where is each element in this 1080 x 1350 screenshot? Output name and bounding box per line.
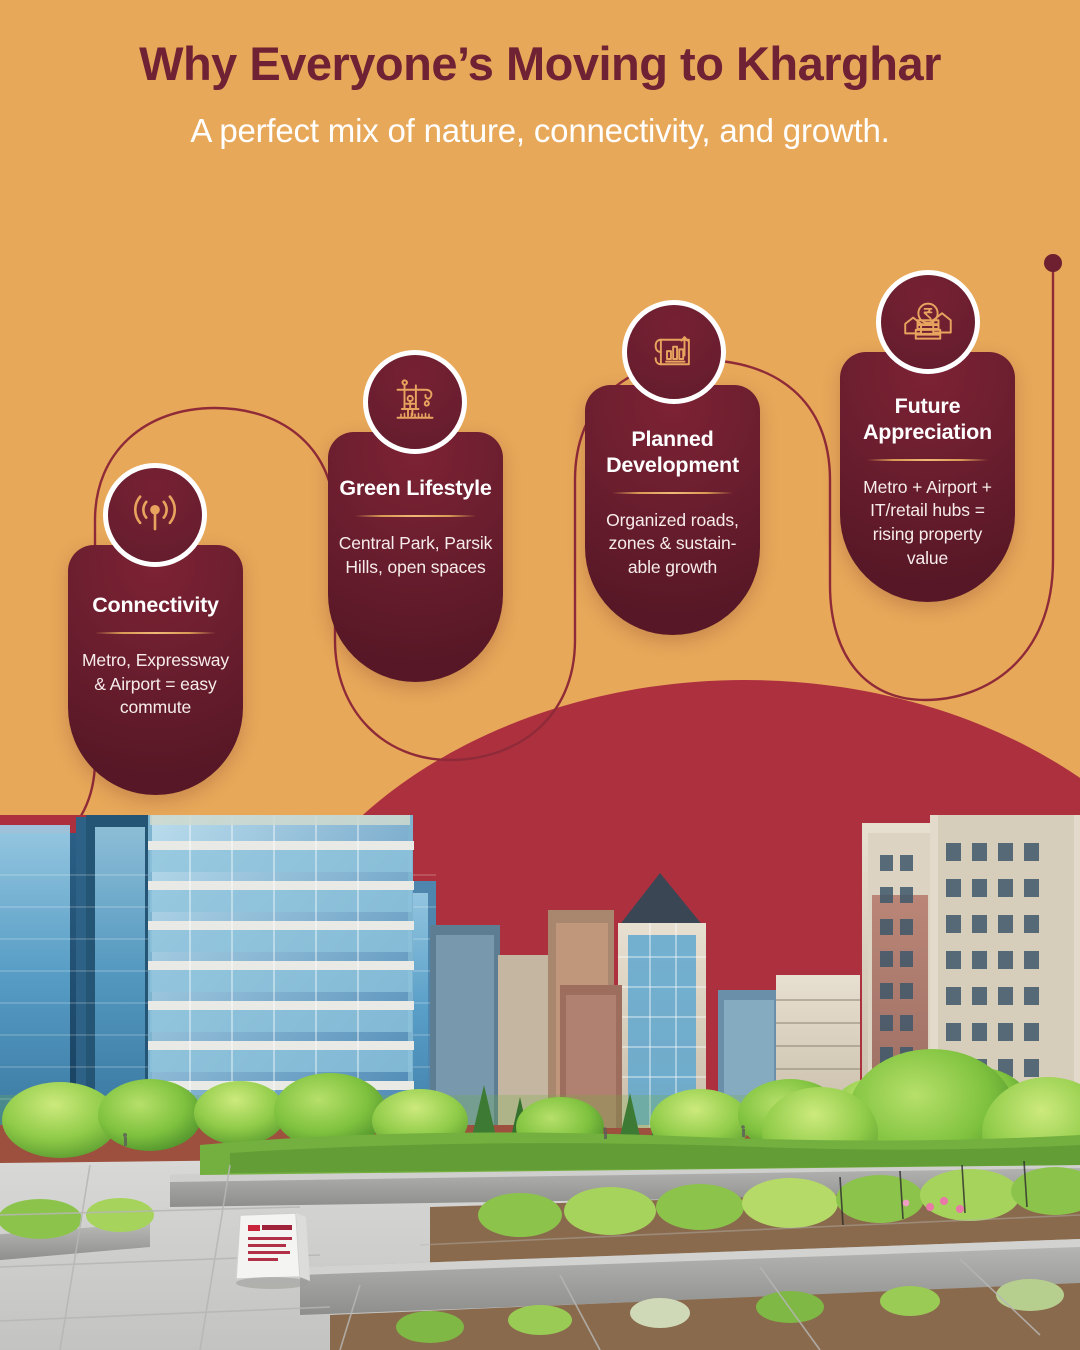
card-description: Metro, Expressway & Airport = easy commu… [78, 649, 233, 720]
card-divider [95, 632, 216, 634]
feature-card-future-appreciation[interactable]: Future Appreciation Metro + Airport + IT… [840, 352, 1015, 602]
rupee-house-coins-icon [876, 270, 980, 374]
feature-card-green-lifestyle[interactable]: Green Lifestyle Central Park, Parsik Hil… [328, 432, 503, 682]
page-title: Why Everyone’s Moving to Kharghar [0, 36, 1080, 91]
card-description: Central Park, Parsik Hills, open spaces [338, 532, 493, 580]
city-park-photo [0, 815, 1080, 1350]
header: Why Everyone’s Moving to Kharghar A perf… [0, 0, 1080, 151]
card-title: Connectivity [78, 593, 233, 619]
broadcast-signal-icon [103, 463, 207, 567]
card-title: Green Lifestyle [338, 476, 493, 502]
sidewalk-sign [236, 1213, 310, 1289]
card-title: Future Appreciation [850, 394, 1005, 446]
tree-swing-icon [363, 350, 467, 454]
card-description: Organized roads, zones & sustain- able g… [595, 509, 750, 580]
card-description: Metro + Airport + IT/retail hubs = risin… [850, 476, 1005, 571]
card-title: Planned Development [595, 427, 750, 479]
page-subtitle: A perfect mix of nature, connectivity, a… [0, 111, 1080, 151]
card-divider [612, 492, 733, 494]
card-divider [355, 515, 476, 517]
blueprint-chart-icon [622, 300, 726, 404]
feature-card-planned-development[interactable]: Planned Development Organized roads, zon… [585, 385, 760, 635]
feature-card-connectivity[interactable]: Connectivity Metro, Expressway & Airport… [68, 545, 243, 795]
card-divider [867, 459, 988, 461]
infographic-poster: Why Everyone’s Moving to Kharghar A perf… [0, 0, 1080, 1350]
